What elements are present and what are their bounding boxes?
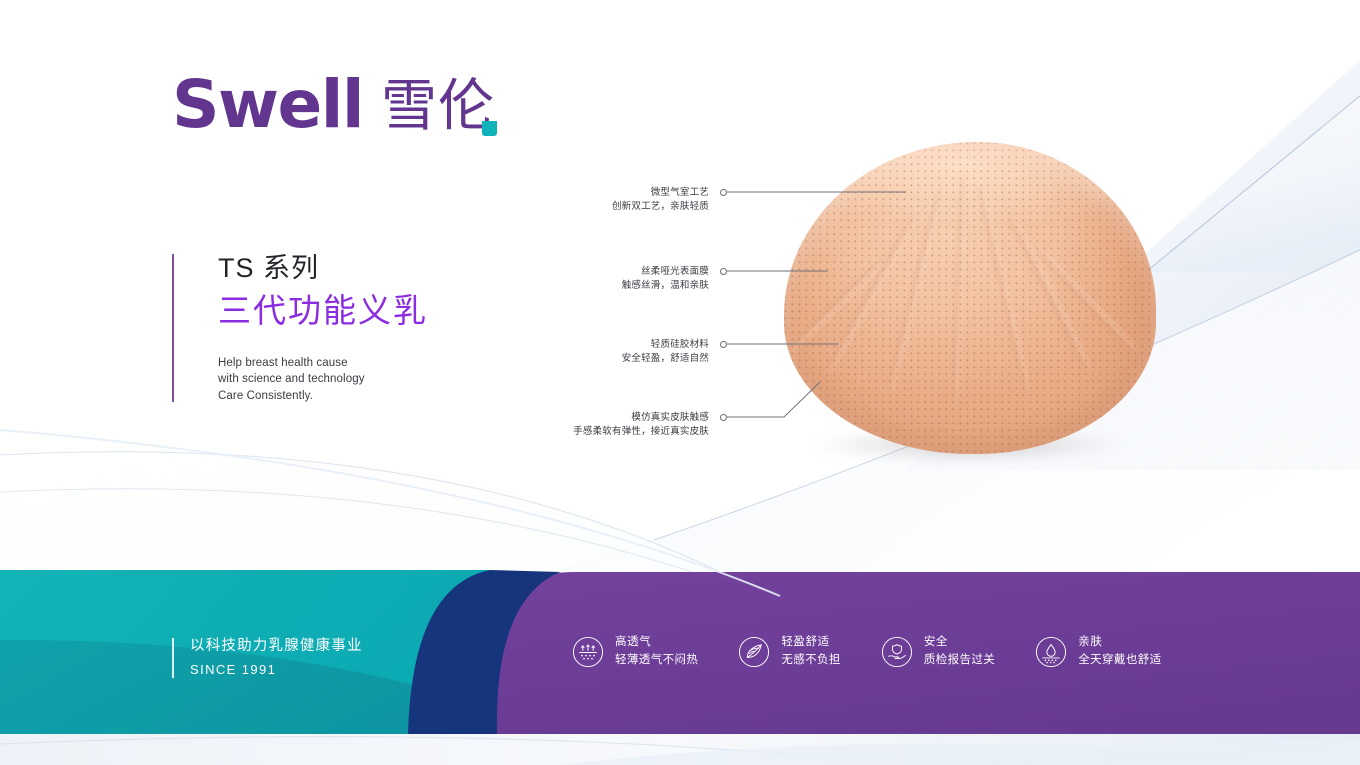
- feature-item-lightweight: 轻盈舒适 无感不负担: [738, 634, 841, 670]
- safety-hand-icon: [881, 636, 913, 668]
- annotation-2: 丝柔哑光表面膜 触感丝滑，温和亲肤: [622, 265, 709, 294]
- poster-canvas: Swell 雪伦 TS 系列 三代功能义乳 Help breast health…: [0, 0, 1360, 765]
- breathable-icon: [572, 636, 604, 668]
- footer-brand-cn: 以科技助力乳腺健康事业: [190, 636, 363, 658]
- logo-wordmark: Swell: [172, 72, 363, 138]
- tagline-line-3: Care Consistently.: [218, 388, 428, 405]
- annotation-3-subtitle: 安全轻盈，舒适自然: [622, 352, 709, 366]
- annotation-2-title: 丝柔哑光表面膜: [622, 265, 709, 279]
- brand-logo: Swell 雪伦: [172, 72, 495, 138]
- feature-title-safety: 安全: [924, 634, 995, 652]
- product-image: [776, 136, 1166, 486]
- product-silicone-form: [784, 142, 1156, 454]
- product-perforation-texture: [784, 142, 1156, 454]
- tagline-line-2: with science and technology: [218, 371, 428, 388]
- annotation-dot-3: [720, 341, 727, 348]
- annotation-4-title: 模仿真实皮肤触感: [573, 411, 709, 425]
- footer-accent-rule: [172, 638, 174, 678]
- feature-subtitle-lightweight: 无感不负担: [781, 652, 841, 670]
- product-title: 三代功能义乳: [218, 290, 428, 333]
- annotation-4-subtitle: 手感柔软有弹性，接近真实皮肤: [573, 425, 709, 439]
- annotation-3-title: 轻质硅胶材料: [622, 338, 709, 352]
- feature-text-safety: 安全 质检报告过关: [924, 634, 995, 670]
- headline-accent-rule: [172, 254, 174, 402]
- footer-brand-since: SINCE 1991: [190, 660, 363, 681]
- feature-text-skinfriendly: 亲肤 全天穿戴也舒适: [1078, 634, 1161, 670]
- feature-subtitle-breathable: 轻薄透气不闷热: [615, 652, 698, 670]
- feature-subtitle-skinfriendly: 全天穿戴也舒适: [1078, 652, 1161, 670]
- headline-block: TS 系列 三代功能义乳 Help breast health cause wi…: [172, 252, 428, 405]
- feature-title-lightweight: 轻盈舒适: [781, 634, 841, 652]
- annotation-dot-1: [720, 189, 727, 196]
- feature-title-skinfriendly: 亲肤: [1078, 634, 1161, 652]
- feature-title-breathable: 高透气: [615, 634, 698, 652]
- feature-item-breathable: 高透气 轻薄透气不闷热: [572, 634, 698, 670]
- feature-item-safety: 安全 质检报告过关: [881, 634, 995, 670]
- annotation-1: 微型气室工艺 创新双工艺，亲肤轻质: [612, 186, 709, 215]
- droplet-skin-icon: [1035, 636, 1067, 668]
- annotation-dot-4: [720, 414, 727, 421]
- annotation-dot-2: [720, 268, 727, 275]
- footer-brand-statement: 以科技助力乳腺健康事业 SINCE 1991: [172, 636, 363, 681]
- feature-text-breathable: 高透气 轻薄透气不闷热: [615, 634, 698, 670]
- tagline: Help breast health cause with science an…: [218, 355, 428, 405]
- annotation-1-subtitle: 创新双工艺，亲肤轻质: [612, 200, 709, 214]
- feather-icon: [738, 636, 770, 668]
- page-title: TS 系列: [218, 252, 428, 286]
- feature-text-lightweight: 轻盈舒适 无感不负担: [781, 634, 841, 670]
- annotation-3: 轻质硅胶材料 安全轻盈，舒适自然: [622, 338, 709, 367]
- feature-item-skinfriendly: 亲肤 全天穿戴也舒适: [1035, 634, 1161, 670]
- annotation-2-subtitle: 触感丝滑，温和亲肤: [622, 279, 709, 293]
- annotation-1-title: 微型气室工艺: [612, 186, 709, 200]
- tagline-line-1: Help breast health cause: [218, 355, 428, 372]
- logo-wordmark-cn: 雪伦: [381, 79, 495, 135]
- logo-accent-dot-icon: [482, 121, 497, 136]
- annotation-4: 模仿真实皮肤触感 手感柔软有弹性，接近真实皮肤: [573, 411, 709, 440]
- feature-list: 高透气 轻薄透气不闷热 轻盈舒适 无感不负担: [572, 634, 1162, 670]
- feature-subtitle-safety: 质检报告过关: [924, 652, 995, 670]
